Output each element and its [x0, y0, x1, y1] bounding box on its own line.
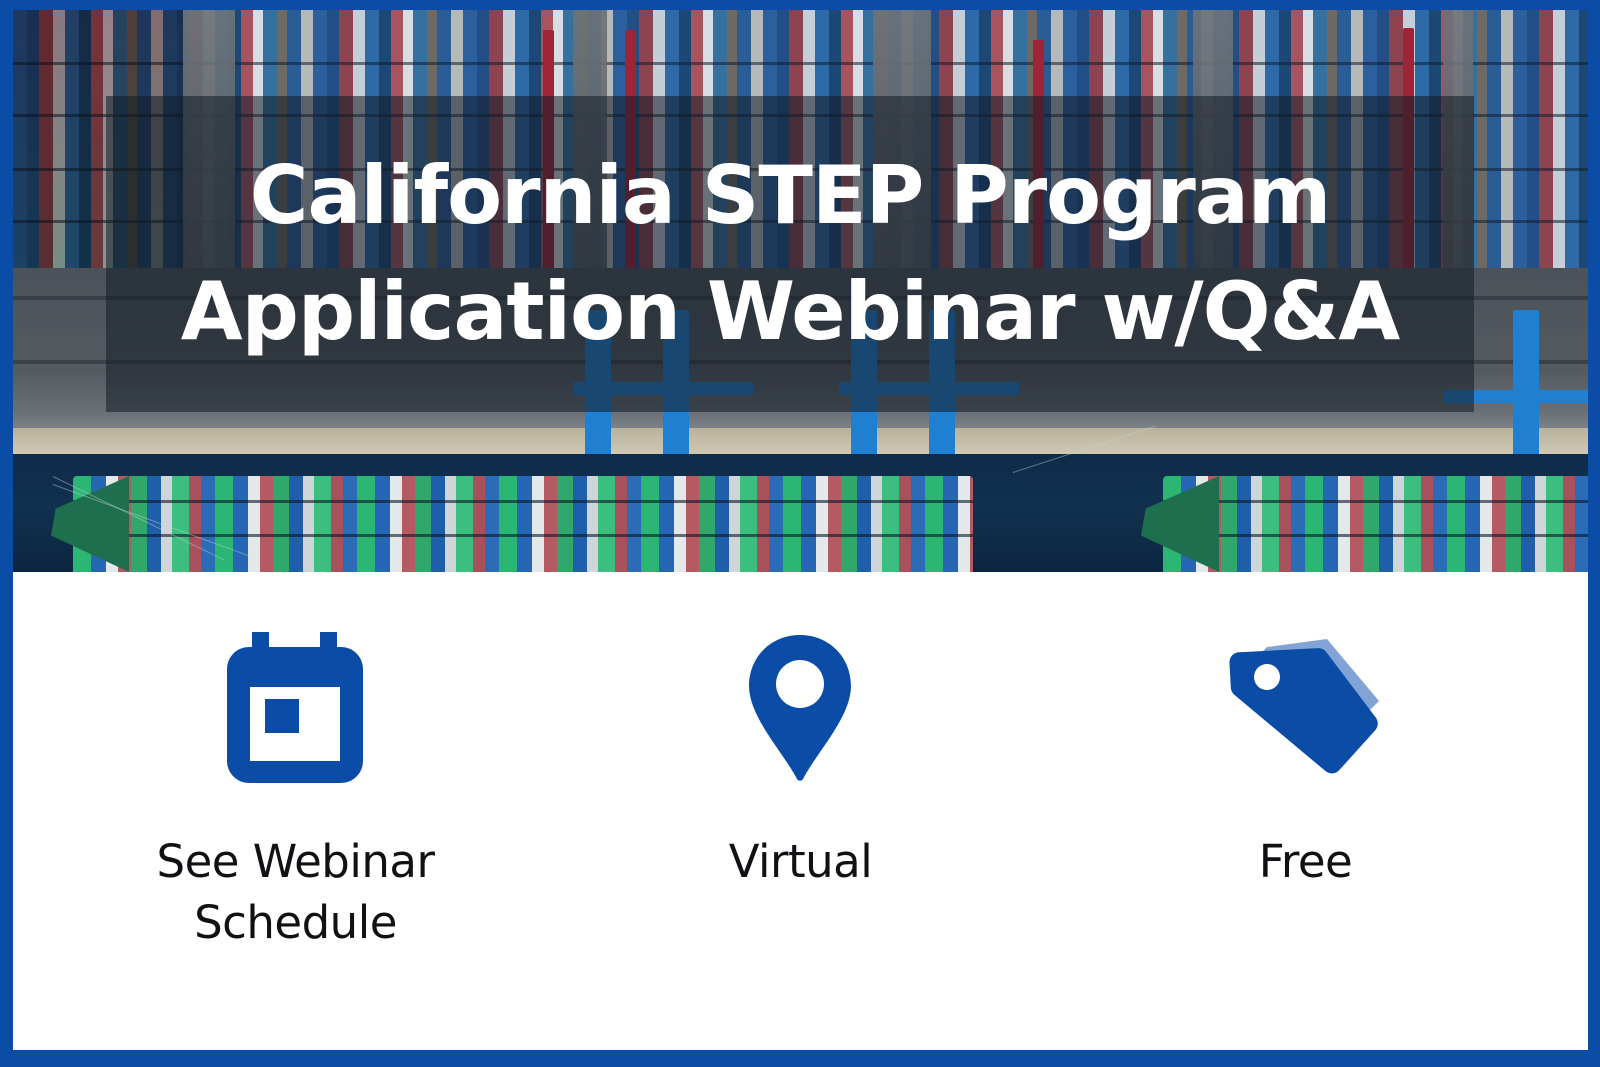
hero-title-line-1: California STEP Program: [250, 138, 1330, 254]
promo-card: California STEP Program Application Webi…: [0, 0, 1600, 1067]
container-ship: [1163, 476, 1588, 572]
hero-photo: California STEP Program Application Webi…: [13, 10, 1588, 572]
feature-label-line-1: Free: [1259, 835, 1353, 888]
price-tag-icon-wrapper: [1223, 624, 1388, 794]
feature-label-line-1: Virtual: [729, 835, 873, 888]
container-ship: [73, 476, 973, 572]
feature-label: See Webinar Schedule: [157, 832, 435, 954]
feature-panel: See Webinar Schedule Virtual: [13, 572, 1588, 1050]
price-tag-icon: [1223, 629, 1388, 789]
location-pin-icon: [745, 629, 855, 789]
feature-label: Virtual: [729, 832, 873, 893]
feature-see-webinar-schedule[interactable]: See Webinar Schedule: [61, 624, 531, 954]
calendar-icon-wrapper: [221, 624, 369, 794]
water-layer: [13, 454, 1588, 572]
title-overlay-band: California STEP Program Application Webi…: [106, 96, 1474, 412]
location-pin-icon-wrapper: [745, 624, 855, 794]
feature-virtual[interactable]: Virtual: [566, 624, 1036, 893]
card-inner: California STEP Program Application Webi…: [13, 10, 1588, 1050]
feature-label-line-2: Schedule: [194, 896, 397, 949]
calendar-icon: [221, 629, 369, 789]
feature-label-line-1: See Webinar: [157, 835, 435, 888]
feature-free[interactable]: Free: [1071, 624, 1541, 893]
feature-label: Free: [1259, 832, 1353, 893]
hero-title-line-2: Application Webinar w/Q&A: [181, 254, 1400, 370]
